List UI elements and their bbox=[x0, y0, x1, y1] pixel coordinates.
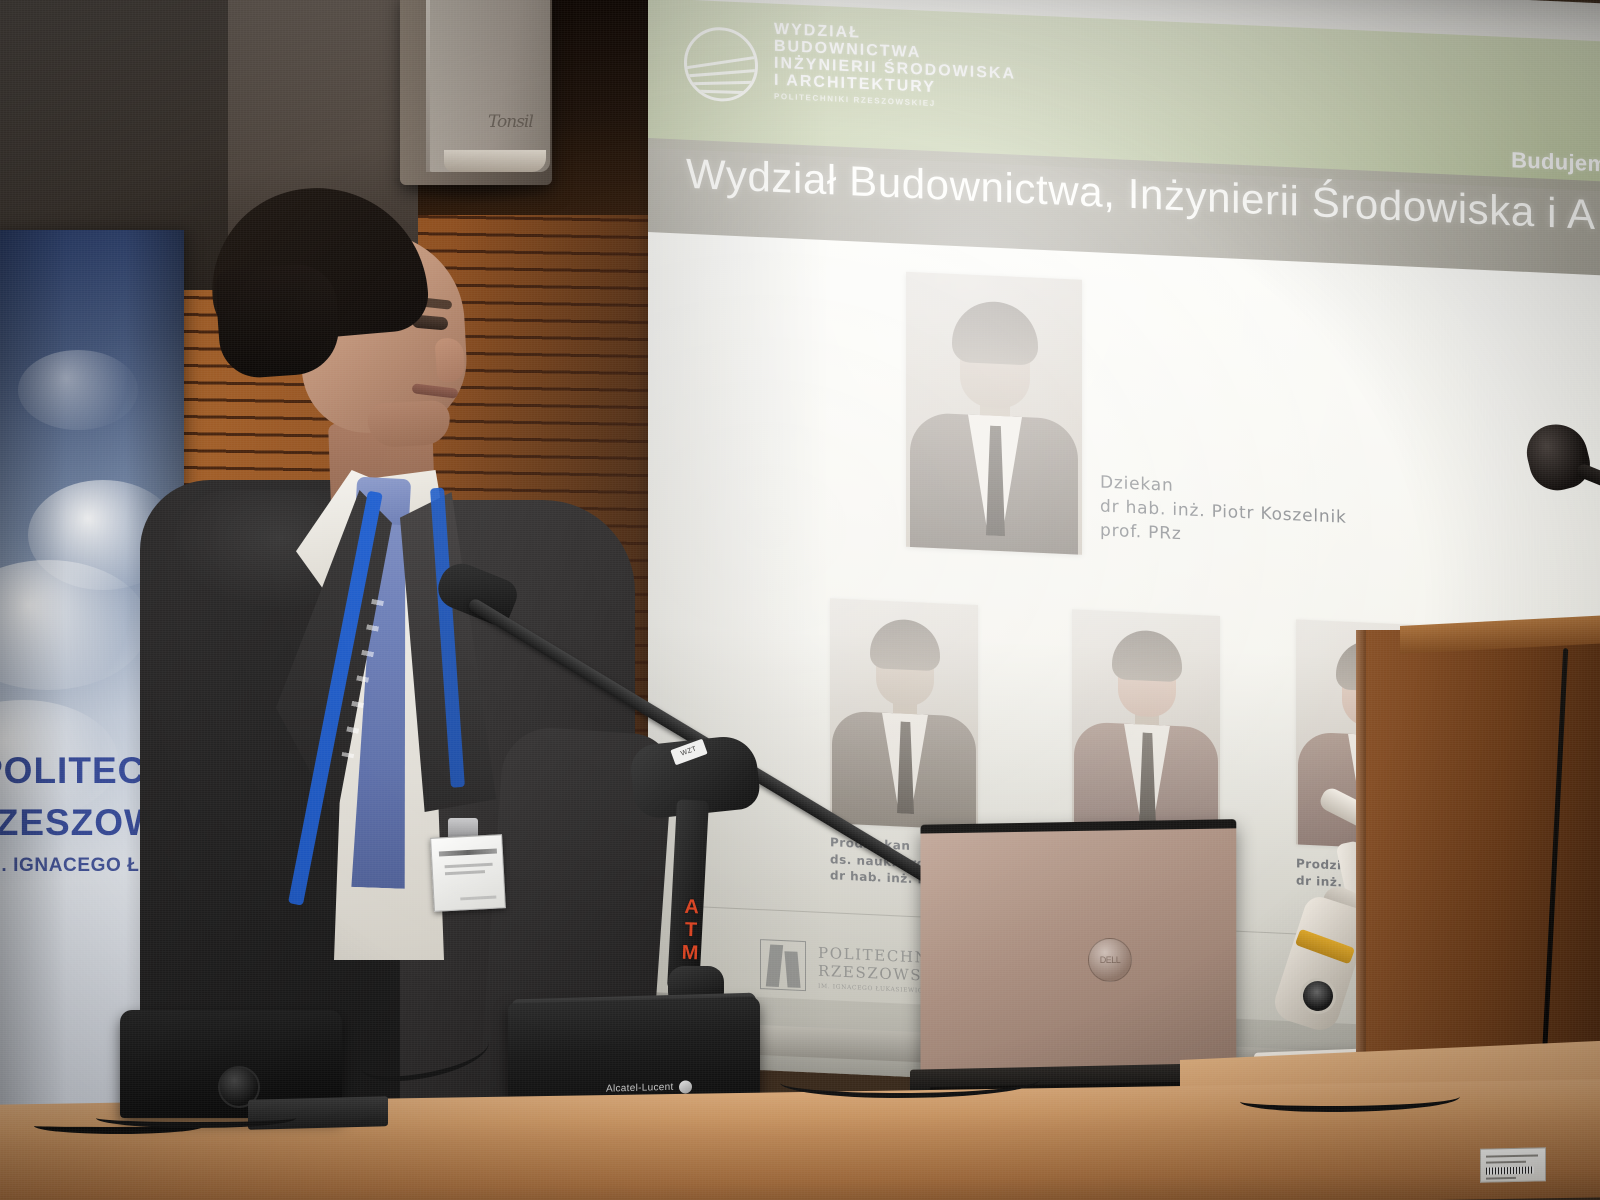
dell-logo-icon bbox=[1088, 938, 1132, 982]
hair-sideburn bbox=[214, 262, 341, 380]
alcatel-lucent-mark-icon bbox=[679, 1080, 692, 1093]
vice-dean-portrait-2 bbox=[1072, 609, 1220, 841]
dean-portrait bbox=[906, 272, 1082, 555]
podium-edge bbox=[1356, 630, 1366, 1090]
pr-logo-mark-icon bbox=[760, 939, 806, 991]
presenter bbox=[100, 170, 620, 1100]
wall-speaker: Tonsil bbox=[400, 0, 552, 185]
chin bbox=[367, 400, 451, 448]
speaker-brand-logo: Tonsil bbox=[488, 112, 548, 138]
conference-name-badge bbox=[430, 834, 506, 912]
desk-cable-2 bbox=[96, 1108, 296, 1128]
laptop-lid bbox=[921, 819, 1237, 1087]
microphone-brand-text: ATM bbox=[675, 896, 703, 959]
alcatel-lucent-label: Alcatel-Lucent bbox=[606, 1081, 674, 1094]
photo-scene: WYDZIAŁ BUDOWNICTWA INŻYNIERII ŚRODOWISK… bbox=[0, 0, 1600, 1200]
inventory-barcode-label bbox=[1480, 1147, 1546, 1182]
vice-dean-portrait-1 bbox=[830, 598, 978, 830]
